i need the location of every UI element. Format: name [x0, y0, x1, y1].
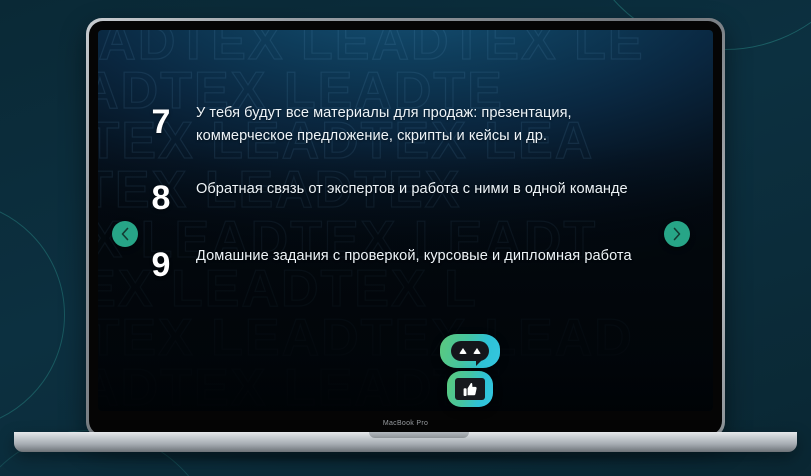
laptop-lid: EX LEADTEX LEADTEX LE ADTEX LEADTEX LEAD… — [86, 18, 725, 438]
chevron-left-icon — [120, 227, 130, 241]
bullet-text: Обратная связь от экспертов и работа с н… — [196, 178, 628, 201]
bullet-text: Домашние задания с проверкой, курсовые и… — [196, 245, 632, 268]
bullet-number: 7 — [144, 102, 178, 139]
bullet-number: 9 — [144, 245, 178, 282]
list-item: 8 Обратная связь от экспертов и работа с… — [144, 178, 667, 215]
slide-content: 7 У тебя будут все материалы для продаж:… — [98, 30, 713, 411]
laptop-bezel: EX LEADTEX LEADTEX LE ADTEX LEADTEX LEAD… — [89, 21, 722, 435]
list-item: 9 Домашние задания с проверкой, курсовые… — [144, 245, 667, 282]
laptop-device: EX LEADTEX LEADTEX LE ADTEX LEADTEX LEAD… — [86, 18, 725, 438]
thumbs-up-icon — [455, 378, 485, 400]
chat-widget-open-button[interactable] — [440, 334, 500, 368]
chat-widget-like-button[interactable] — [447, 371, 493, 407]
page-root: EX LEADTEX LEADTEX LE ADTEX LEADTEX LEAD… — [0, 0, 811, 476]
laptop-base-lip — [369, 432, 469, 438]
carousel-next-button[interactable] — [664, 221, 690, 247]
chat-eye-right — [473, 348, 481, 354]
laptop-screen: EX LEADTEX LEADTEX LE ADTEX LEADTEX LEAD… — [98, 30, 713, 411]
device-model-label: MacBook Pro — [383, 420, 428, 427]
laptop-chin: MacBook Pro — [89, 413, 722, 433]
bullet-number: 8 — [144, 178, 178, 215]
laptop-base — [14, 432, 797, 452]
chevron-right-icon — [672, 227, 682, 241]
list-item: 7 У тебя будут все материалы для продаж:… — [144, 102, 667, 148]
carousel-prev-button[interactable] — [112, 221, 138, 247]
chat-eye-left — [459, 348, 467, 354]
chat-widget — [440, 334, 500, 407]
bullet-text: У тебя будут все материалы для продаж: п… — [196, 102, 667, 148]
decorative-circle-left — [0, 200, 65, 430]
laptop-base-shadow — [40, 452, 770, 462]
chat-bubble-icon — [451, 341, 489, 361]
